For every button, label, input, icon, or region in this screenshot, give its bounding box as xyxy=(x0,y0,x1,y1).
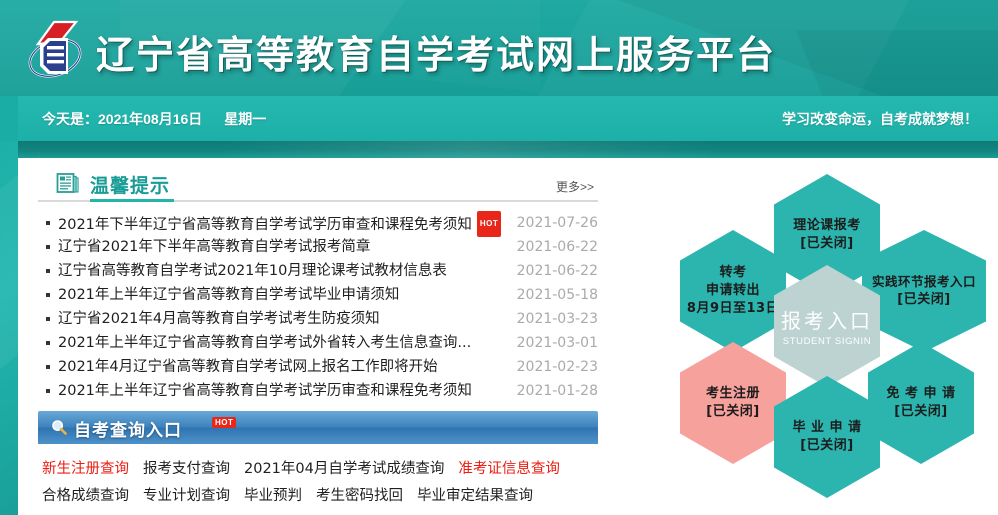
date-bar: 今天是：2021年08月16日星期一 学习改变命运，自考成就梦想！ xyxy=(18,96,998,141)
bullet-icon xyxy=(46,389,50,393)
news-item-title[interactable]: 2021年上半年辽宁省高等教育自学考试学历审查和课程免考须知 xyxy=(58,383,472,399)
hex-center-title: 报考入口 xyxy=(781,305,873,334)
news-item[interactable]: 2021年4月辽宁省高等教育自学考试网上报名工作即将开始2021-02-23 xyxy=(38,355,598,379)
query-link[interactable]: 2021年04月自学考试成绩查询 xyxy=(244,461,444,477)
news-item-date: 2021-03-23 xyxy=(517,307,598,331)
bullet-icon xyxy=(46,269,50,273)
query-header-bar: 自考查询入口 HOT xyxy=(38,411,598,444)
query-link[interactable]: 准考证信息查询 xyxy=(458,461,560,477)
hex-line1: 考生注册 xyxy=(706,385,760,403)
query-link[interactable]: 考生密码找回 xyxy=(316,488,403,504)
bullet-icon xyxy=(46,293,50,297)
bullet-icon xyxy=(46,317,50,321)
magnifier-icon xyxy=(51,419,67,435)
news-title: 温馨提示 xyxy=(90,171,170,198)
hex-line2: [已关闭] xyxy=(706,403,759,421)
hex-line2: [已关闭] xyxy=(894,403,947,421)
today-weekday: 星期一 xyxy=(224,111,266,127)
news-item-title[interactable]: 辽宁省高等教育自学考试2021年10月理论课考试教材信息表 xyxy=(58,263,447,279)
news-item-title[interactable]: 2021年4月辽宁省高等教育自学考试网上报名工作即将开始 xyxy=(58,359,438,375)
news-item-date: 2021-06-22 xyxy=(517,235,598,259)
header-facet-decor xyxy=(796,30,998,96)
query-link[interactable]: 新生注册查询 xyxy=(42,461,129,477)
today-date-text: 今天是：2021年08月16日 xyxy=(42,111,202,127)
site-header: 辽宁省高等教育自学考试网上服务平台 xyxy=(0,0,998,96)
query-link[interactable]: 报考支付查询 xyxy=(143,461,230,477)
page-title: 辽宁省高等教育自学考试网上服务平台 xyxy=(96,24,776,79)
hex-practice-session-entry[interactable]: 实践环节报考入口 [已关闭] xyxy=(862,230,986,352)
newspaper-icon xyxy=(56,171,80,195)
query-module: 自考查询入口 HOT 新生注册查询报考支付查询2021年04月自学考试成绩查询准… xyxy=(38,411,598,509)
bullet-icon xyxy=(46,245,50,249)
news-item[interactable]: 2021年下半年辽宁省高等教育自学考试学历审查和课程免考须知HOT2021-07… xyxy=(38,211,598,235)
hex-candidate-registration[interactable]: 考生注册 [已关闭] xyxy=(680,342,786,464)
query-link[interactable]: 合格成绩查询 xyxy=(42,488,129,504)
hex-transfer-application[interactable]: 转考 申请转出 8月9日至13日 xyxy=(680,230,786,352)
news-item-date: 2021-01-28 xyxy=(517,379,598,403)
news-item[interactable]: 2021年上半年辽宁省高等教育自学考试学历审查和课程免考须知2021-01-28 xyxy=(38,379,598,403)
hex-center-subtitle: STUDENT SIGNIN xyxy=(783,336,871,347)
hex-graduation-application[interactable]: 毕 业 申 请 [已关闭] xyxy=(774,376,880,498)
hex-exemption-application[interactable]: 免 考 申 请 [已关闭] xyxy=(868,342,974,464)
bullet-icon xyxy=(46,341,50,345)
hot-badge: HOT xyxy=(477,211,501,237)
hex-line3: 8月9日至13日 xyxy=(687,300,779,318)
query-link[interactable]: 毕业预判 xyxy=(244,488,302,504)
news-item-date: 2021-02-23 xyxy=(517,355,598,379)
bullet-icon xyxy=(46,221,50,225)
hex-line1: 免 考 申 请 xyxy=(886,385,955,403)
news-item-title[interactable]: 2021年上半年辽宁省高等教育自学考试毕业申请须知 xyxy=(58,287,399,303)
ln-selfstudy-logo xyxy=(24,16,86,86)
news-item-title[interactable]: 2021年上半年辽宁省高等教育自学考试外省转入考生信息查询... xyxy=(58,335,471,351)
query-links: 新生注册查询报考支付查询2021年04月自学考试成绩查询准考证信息查询 合格成绩… xyxy=(38,444,598,509)
news-item-title[interactable]: 2021年下半年辽宁省高等教育自学考试学历审查和课程免考须知 xyxy=(58,217,472,233)
hex-line2: 申请转出 xyxy=(706,282,760,300)
news-item[interactable]: 辽宁省高等教育自学考试2021年10月理论课考试教材信息表2021-06-22 xyxy=(38,259,598,283)
news-item-date: 2021-06-22 xyxy=(517,259,598,283)
news-item[interactable]: 辽宁省2021年4月高等教育自学考试考生防疫须知2021-03-23 xyxy=(38,307,598,331)
news-item[interactable]: 2021年上半年辽宁省高等教育自学考试毕业申请须知2021-05-18 xyxy=(38,283,598,307)
query-link-row: 新生注册查询报考支付查询2021年04月自学考试成绩查询准考证信息查询 xyxy=(38,455,598,482)
news-item[interactable]: 2021年上半年辽宁省高等教育自学考试外省转入考生信息查询...2021-03-… xyxy=(38,331,598,355)
hex-line1: 毕 业 申 请 xyxy=(792,419,861,437)
hex-line1: 理论课报考 xyxy=(793,217,861,235)
hex-line2: [已关闭] xyxy=(897,291,950,309)
news-item-title[interactable]: 辽宁省2021年下半年高等教育自学考试报考简章 xyxy=(58,239,370,255)
hex-line2: [已关闭] xyxy=(800,437,853,455)
today-date: 今天是：2021年08月16日星期一 xyxy=(42,109,266,129)
news-header: 温馨提示 更多>> xyxy=(38,168,598,202)
hex-menu: 理论课报考 [已关闭] 转考 申请转出 8月9日至13日 实践环节报考入口 [已… xyxy=(656,158,998,515)
query-link-row: 合格成绩查询专业计划查询毕业预判考生密码找回毕业审定结果查询 xyxy=(38,482,598,509)
news-item-date: 2021-03-01 xyxy=(517,331,598,355)
news-title-underline xyxy=(90,199,174,202)
main-content-panel: 温馨提示 更多>> 2021年下半年辽宁省高等教育自学考试学历审查和课程免考须知… xyxy=(18,158,998,515)
strip-sheen xyxy=(218,141,718,158)
query-link[interactable]: 毕业审定结果查询 xyxy=(417,488,533,504)
hex-line1: 实践环节报考入口 xyxy=(872,273,976,291)
news-item-date: 2021-07-26 xyxy=(517,211,598,235)
query-hot-badge: HOT xyxy=(212,417,236,428)
news-list: 2021年下半年辽宁省高等教育自学考试学历审查和课程免考须知HOT2021-07… xyxy=(38,211,598,403)
news-more-link[interactable]: 更多>> xyxy=(556,178,594,195)
news-item-date: 2021-05-18 xyxy=(517,283,598,307)
hex-line1: 转考 xyxy=(719,264,746,282)
query-link[interactable]: 专业计划查询 xyxy=(143,488,230,504)
hex-line2: [已关闭] xyxy=(800,235,853,253)
news-module: 温馨提示 更多>> 2021年下半年辽宁省高等教育自学考试学历审查和课程免考须知… xyxy=(38,168,598,403)
news-item-title[interactable]: 辽宁省2021年4月高等教育自学考试考生防疫须知 xyxy=(58,311,380,327)
header-shadow-strip xyxy=(18,141,998,158)
page-root: 辽宁省高等教育自学考试网上服务平台 今天是：2021年08月16日星期一 学习改… xyxy=(0,0,998,515)
site-slogan: 学习改变命运，自考成就梦想！ xyxy=(782,109,978,129)
query-title: 自考查询入口 xyxy=(74,416,182,441)
news-item[interactable]: 辽宁省2021年下半年高等教育自学考试报考简章2021-06-22 xyxy=(38,235,598,259)
left-teal-gutter xyxy=(0,141,18,515)
bullet-icon xyxy=(46,365,50,369)
